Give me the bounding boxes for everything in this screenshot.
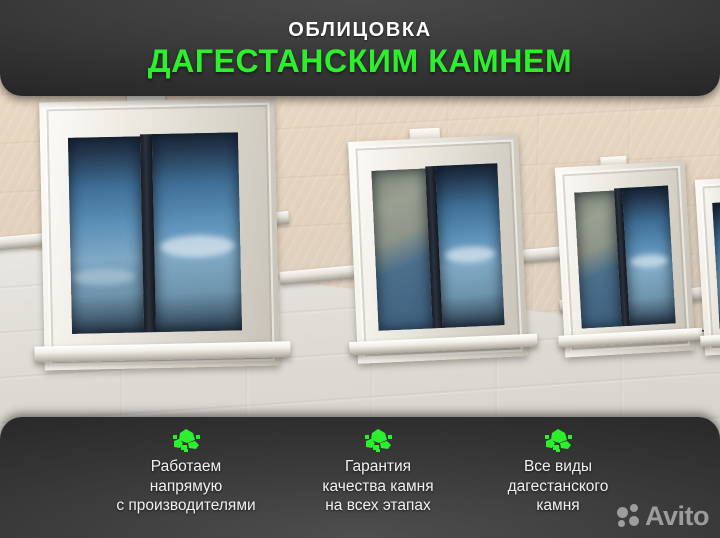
advertisement-banner: ОБЛИЦОВКА ДАГЕСТАНСКИМ КАМНЕМ Работаем н… — [0, 0, 720, 538]
window-3 — [555, 161, 695, 358]
stone-pile-icon — [363, 427, 393, 453]
window-1-glass-left — [68, 136, 144, 333]
window-2 — [348, 134, 528, 363]
footer-panel: Работаем напрямую с производителями Гара… — [0, 417, 720, 538]
header-panel: ОБЛИЦОВКА ДАГЕСТАНСКИМ КАМНЕМ — [0, 0, 720, 96]
feature-2-line-3: на всех этапах — [325, 496, 431, 516]
feature-1-line-3: с производителями — [116, 496, 255, 516]
feature-3-line-2: дагестанского — [508, 477, 609, 497]
avito-watermark: Avito — [617, 503, 709, 530]
feature-1-line-2: напрямую — [150, 477, 223, 497]
feature-item-1: Работаем напрямую с производителями — [60, 427, 312, 516]
window-2-glass-left — [371, 168, 432, 330]
feature-1-line-1: Работаем — [151, 457, 221, 477]
header-title-line1: ОБЛИЦОВКА — [288, 20, 432, 40]
feature-2-line-1: Гарантия — [345, 457, 411, 477]
feature-item-3: Все виды дагестанского камня — [482, 427, 634, 516]
window-1 — [39, 98, 280, 371]
feature-3-line-1: Все виды — [524, 457, 592, 477]
feature-3-line-3: камня — [536, 496, 579, 516]
stone-pile-icon — [543, 427, 573, 453]
feature-item-2: Гарантия качества камня на всех этапах — [312, 427, 444, 516]
feature-2-line-2: качества камня — [322, 477, 433, 497]
avito-wordmark: Avito — [645, 503, 709, 530]
stone-pile-icon — [171, 427, 201, 453]
header-title-line2: ДАГЕСТАНСКИМ КАМНЕМ — [148, 45, 572, 77]
window-1-glass-right — [152, 132, 242, 332]
avito-dots-icon — [617, 504, 642, 529]
